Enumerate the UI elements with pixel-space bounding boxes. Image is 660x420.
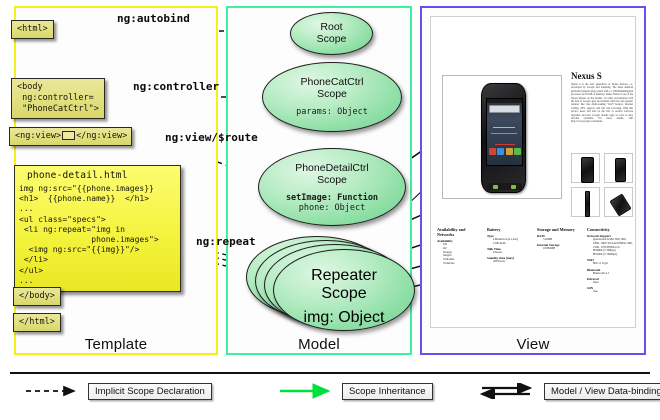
ngview-close-tag: </ng:view> (76, 131, 127, 141)
spec-value-wifi: 802.11 b/g/n (587, 262, 633, 266)
note-source-code: img ng:src="{{phone.images}} <h1> {{phon… (15, 184, 180, 291)
scope-repeater-title-2: Scope (274, 285, 414, 303)
scope-phonecatctrl: PhoneCatCtrl Scope params: Object (262, 62, 402, 132)
scope-phonedetailctrl-prop-setimage: setImage: Function (259, 193, 405, 203)
phone-search-widget (489, 105, 520, 113)
spec-value-gps: true (587, 290, 633, 294)
scope-repeater-stack: Repeater Scope img: Object (246, 236, 416, 336)
thumbnail-phone-edge (585, 191, 590, 217)
label-ng-autobind: ng:autobind (117, 12, 190, 25)
view-page-title: Nexus S (571, 71, 602, 81)
label-ng-controller: ng:controller (133, 80, 219, 93)
phone-softkey-2 (511, 185, 516, 189)
thumbnail-phone-angled (609, 193, 631, 216)
thumbnail-phone-front (581, 157, 594, 183)
thumbnail-phone-back (615, 158, 626, 182)
spec-heading-connectivity: Connectivity (587, 227, 633, 232)
phone-statusbar (487, 99, 522, 103)
label-ng-view-route: ng:view/$route (165, 131, 258, 144)
spec-column-availability: Availability and Networks Availability M… (437, 227, 483, 323)
scope-phonedetailctrl-title-2: Scope (259, 175, 405, 187)
legend-divider (10, 372, 650, 374)
scope-phonecatctrl-title-1: PhoneCatCtrl (263, 77, 401, 89)
legend-dashed-arrow-icon (24, 383, 82, 399)
column-label-template: Template (14, 336, 218, 353)
template-body-open-tag: <body ng:controller= "PhoneCatCtrl"> (11, 78, 105, 119)
scope-repeater: Repeater Scope img: Object (273, 249, 415, 331)
scope-root: Root Scope (290, 12, 373, 55)
scope-phonedetailctrl: PhoneDetailCtrl Scope setImage: Function… (258, 148, 406, 226)
scope-phonecatctrl-title-2: Scope (263, 89, 401, 101)
view-thumbnail-2[interactable] (604, 153, 633, 183)
legend-label-implicit-scope-declaration: Implicit Scope Declaration (88, 383, 212, 400)
template-html-open-tag: <html> (11, 20, 54, 39)
legend-entry-implicit-scope-declaration: Implicit Scope Declaration (24, 382, 212, 400)
column-label-view: View (420, 336, 646, 353)
phone-screen (486, 98, 523, 166)
phone-wallpaper-line-2 (491, 133, 517, 134)
ngview-open-tag: <ng:view> (15, 131, 61, 141)
view-thumbnail-4[interactable] (604, 187, 633, 217)
template-phone-detail-note: phone-detail.html img ng:src="{{phone.im… (14, 165, 181, 292)
legend-entry-scope-inheritance: Scope Inheritance (278, 382, 433, 400)
phone-hero-image-frame (442, 75, 562, 199)
phone-dock-icon-3 (506, 148, 513, 155)
spec-value-battery-talktime: 6 hours (487, 251, 533, 255)
legend-label-model-view-data-binding: Model / View Data-binding (544, 383, 660, 400)
spec-value-network-3: HSUPA (5.76Mbps) (587, 253, 633, 257)
spec-heading-battery: Battery (487, 227, 533, 232)
spec-column-battery: Battery Type Lithium Ion (Li-Ion) 1500 m… (487, 227, 533, 323)
scope-phonedetailctrl-title-1: PhoneDetailCtrl (259, 163, 405, 175)
spec-column-connectivity: Connectivity Network Support Quad-band G… (587, 227, 633, 323)
spec-value-internal-storage: 16384MB (537, 247, 583, 251)
spec-heading-storage: Storage and Memory (537, 227, 583, 232)
spec-value-ram: 512MB (537, 238, 583, 242)
template-ngview-tag: <ng:view></ng:view> (9, 127, 132, 146)
phone-dock-icon-2 (497, 148, 504, 155)
view-specs-table: Availability and Networks Availability M… (437, 227, 633, 323)
legend-label-scope-inheritance: Scope Inheritance (342, 383, 433, 400)
scope-root-title-1: Root (291, 22, 372, 34)
spec-value-battery-standby: 428 hours (487, 260, 533, 264)
ngview-placeholder-icon (62, 131, 75, 140)
phone-softkey-1 (493, 185, 498, 189)
phone-illustration (481, 83, 526, 193)
spec-value-infrared: false (587, 281, 633, 285)
note-filename: phone-detail.html (15, 166, 180, 184)
template-html-close-tag: </html> (13, 313, 61, 332)
spec-column-storage: Storage and Memory RAM 512MB Internal St… (537, 227, 583, 323)
spec-value-bluetooth: Bluetooth 2.1 (587, 272, 633, 276)
column-label-model: Model (226, 336, 412, 353)
view-thumbnail-1[interactable] (571, 153, 600, 183)
legend-double-arrow-icon (480, 383, 538, 399)
phone-dock-icon-4 (514, 148, 521, 155)
phone-wallpaper-line-3 (495, 144, 515, 145)
phone-wallpaper-line-1 (493, 127, 515, 128)
spec-heading-availability: Availability and Networks (437, 227, 483, 237)
scope-repeater-prop-img: img: Object (274, 309, 414, 327)
view-rendered-page: Nexus S Nexus S is the next generation o… (430, 16, 636, 328)
template-body-close-tag: </body> (13, 287, 61, 306)
legend-green-arrow-icon (278, 383, 336, 399)
diagram-canvas: <html> <body ng:controller= "PhoneCatCtr… (0, 0, 660, 420)
scope-phonedetailctrl-prop-phone: phone: Object (259, 203, 405, 213)
view-thumbnail-3[interactable] (571, 187, 600, 217)
phone-dock-icons (489, 148, 522, 155)
spec-value-availability-6: Vodafone (437, 262, 483, 266)
phone-dock-icon-1 (489, 148, 496, 155)
scope-repeater-title-1: Repeater (274, 267, 414, 285)
spec-value-battery-type-2: 1500 mAh (487, 242, 533, 246)
scope-phonecatctrl-prop-params: params: Object (263, 107, 401, 117)
phone-softkey-row (487, 183, 522, 190)
scope-root-title-2: Scope (291, 34, 372, 46)
legend-entry-model-view-data-binding: Model / View Data-binding (480, 382, 660, 400)
view-page-paragraph: Nexus S is the next generation of Nexus … (571, 83, 633, 124)
